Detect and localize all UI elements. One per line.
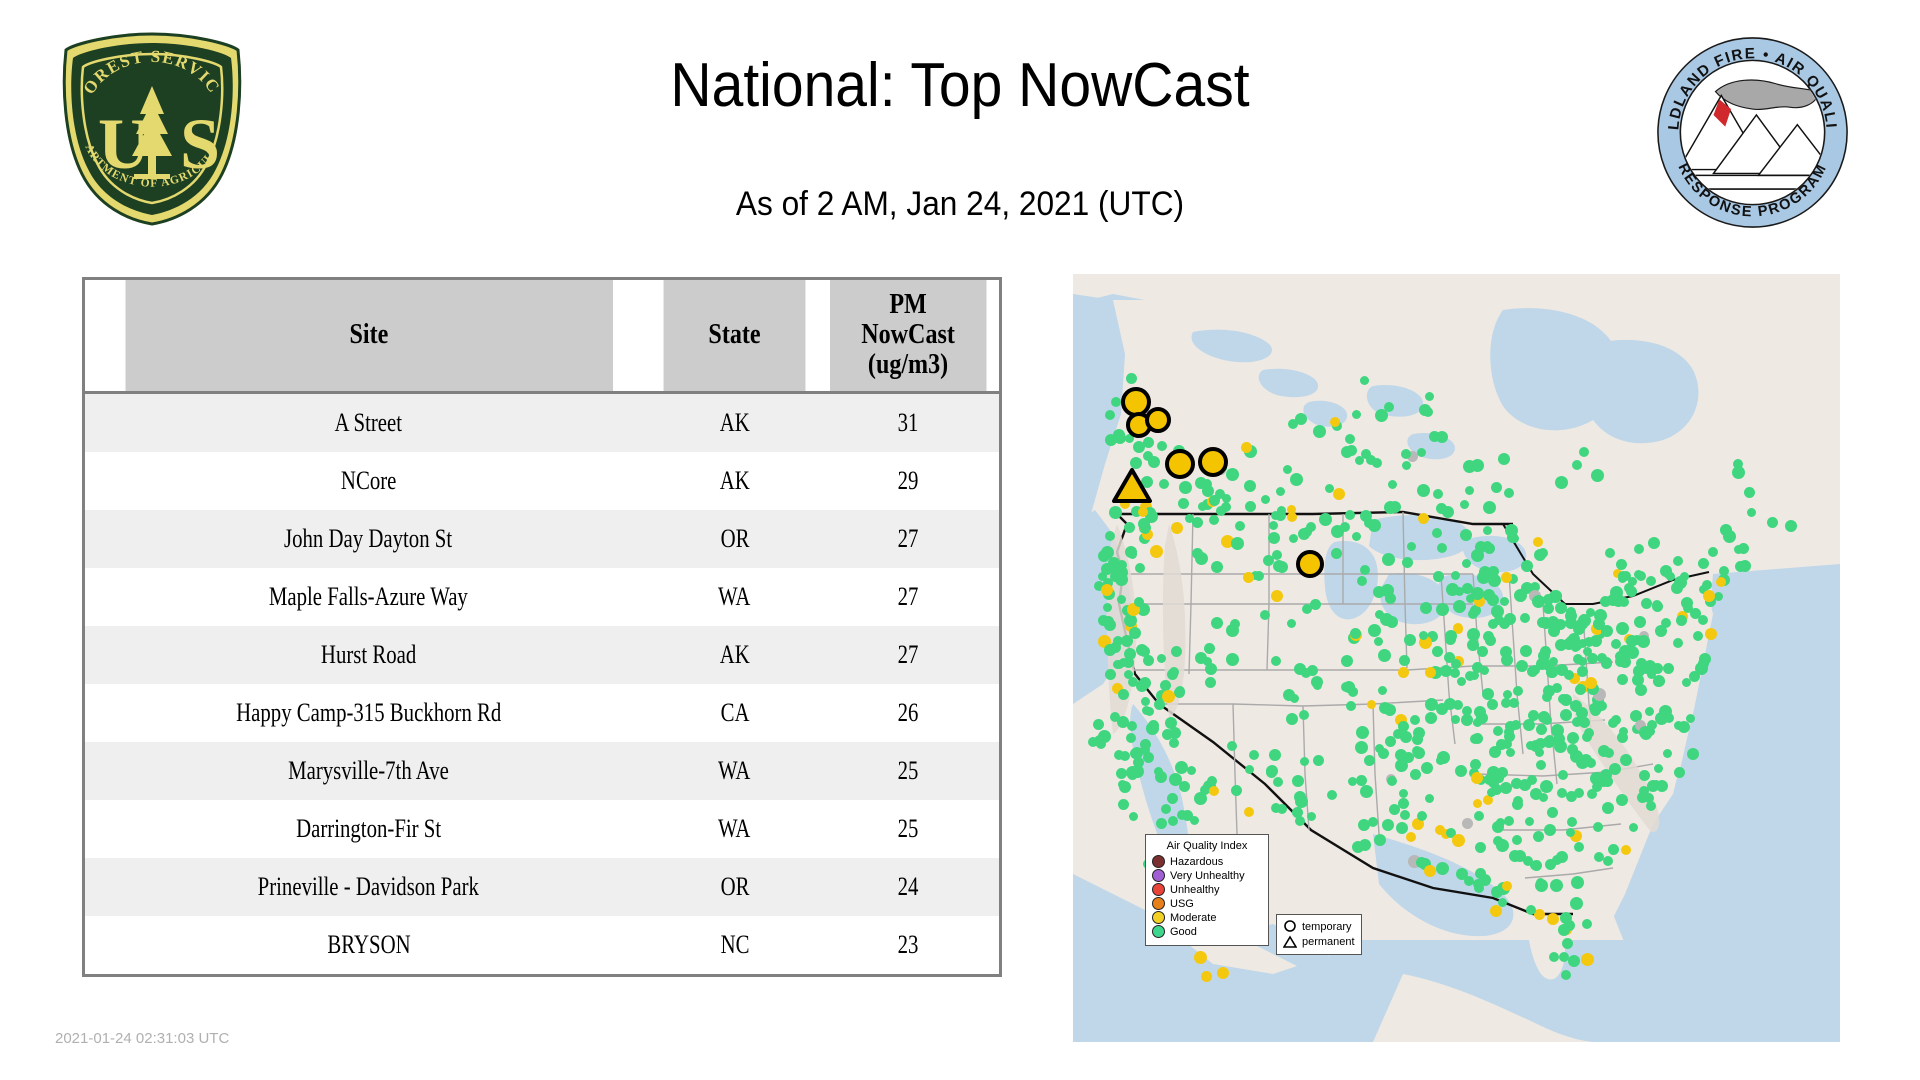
- aqi-legend-swatch-icon: [1152, 925, 1165, 938]
- monitor-dot[interactable]: [1540, 780, 1553, 793]
- monitor-dot[interactable]: [1491, 482, 1502, 493]
- monitor-dot[interactable]: [1178, 498, 1189, 509]
- monitor-dot[interactable]: [1272, 550, 1282, 560]
- cell-site-label: Maple Falls-Azure Way: [269, 582, 468, 612]
- cell-pm-nowcast-label: 29: [898, 466, 919, 496]
- monitor-dot[interactable]: [1509, 698, 1519, 708]
- monitor-dot[interactable]: [1504, 816, 1514, 826]
- monitor-dot[interactable]: [1502, 739, 1512, 749]
- monitor-dot[interactable]: [1143, 451, 1153, 461]
- monitor-dot[interactable]: [1179, 481, 1192, 494]
- monitor-dot[interactable]: [1452, 834, 1465, 847]
- top-site-marker[interactable]: [1165, 449, 1195, 479]
- monitor-dot[interactable]: [1483, 526, 1492, 535]
- monitor-dot[interactable]: [1626, 635, 1638, 647]
- monitor-dot[interactable]: [1359, 839, 1371, 851]
- monitor-dot[interactable]: [1433, 489, 1443, 499]
- monitor-dot[interactable]: [1141, 697, 1150, 706]
- monitor-dot[interactable]: [1277, 804, 1287, 814]
- table-row: A StreetAK31: [84, 392, 1001, 452]
- monitor-dot[interactable]: [1124, 522, 1135, 533]
- monitor-dot[interactable]: [1487, 788, 1496, 797]
- monitor-dot[interactable]: [1226, 468, 1239, 481]
- monitor-dot[interactable]: [1410, 715, 1420, 725]
- monitor-dot[interactable]: [1543, 736, 1555, 748]
- monitor-dot[interactable]: [1473, 718, 1482, 727]
- monitor-dot[interactable]: [1520, 645, 1532, 657]
- cell-state: CA: [652, 684, 817, 742]
- monitor-dot[interactable]: [1410, 769, 1421, 780]
- monitor-dot[interactable]: [1111, 397, 1121, 407]
- monitor-dot[interactable]: [1118, 689, 1129, 700]
- monitor-dot[interactable]: [1525, 817, 1534, 826]
- monitor-dot[interactable]: [1543, 603, 1554, 614]
- monitor-dot[interactable]: [1480, 666, 1489, 675]
- monitor-dot[interactable]: [1571, 876, 1584, 889]
- monitor-dot[interactable]: [1462, 818, 1473, 829]
- monitor-dot[interactable]: [1204, 643, 1215, 654]
- monitor-dot[interactable]: [1488, 777, 1499, 788]
- monitor-dot[interactable]: [1174, 687, 1185, 698]
- cell-pm-nowcast: 25: [817, 800, 1000, 858]
- monitor-dot[interactable]: [1629, 823, 1638, 832]
- monitor-dot[interactable]: [1273, 777, 1283, 787]
- monitor-dot[interactable]: [1511, 778, 1522, 789]
- monitor-dot[interactable]: [1286, 713, 1298, 725]
- monitor-dot[interactable]: [1383, 554, 1394, 565]
- aqi-legend-label: Good: [1170, 926, 1197, 938]
- monitor-dot[interactable]: [1483, 501, 1496, 514]
- monitor-dot[interactable]: [1345, 510, 1355, 520]
- monitor-dot[interactable]: [1110, 712, 1120, 722]
- monitor-dot[interactable]: [1209, 515, 1219, 525]
- monitor-dot[interactable]: [1634, 544, 1644, 554]
- monitor-dot[interactable]: [1511, 720, 1521, 730]
- monitor-dot[interactable]: [1554, 740, 1567, 753]
- monitor-dot[interactable]: [1568, 955, 1580, 967]
- monitor-dot[interactable]: [1360, 510, 1372, 522]
- monitor-dot[interactable]: [1477, 571, 1490, 584]
- monitor-dot[interactable]: [1276, 561, 1288, 573]
- monitor-dot[interactable]: [1160, 680, 1171, 691]
- monitor-dot[interactable]: [1105, 669, 1116, 680]
- monitor-dot[interactable]: [1513, 686, 1523, 696]
- monitor-dot[interactable]: [1171, 646, 1182, 657]
- monitor-dot[interactable]: [1540, 646, 1551, 657]
- monitor-dot[interactable]: [1698, 558, 1709, 569]
- monitor-dot[interactable]: [1340, 522, 1350, 532]
- monitor-dot[interactable]: [1139, 677, 1151, 689]
- monitor-dot[interactable]: [1190, 816, 1199, 825]
- monitor-dot[interactable]: [1421, 762, 1433, 774]
- monitor-dot[interactable]: [1512, 835, 1522, 845]
- page-subtitle: As of 2 AM, Jan 24, 2021 (UTC): [67, 185, 1853, 224]
- monitor-dot[interactable]: [1471, 587, 1484, 600]
- monitor-dot[interactable]: [1603, 856, 1613, 866]
- cell-site-label: Hurst Road: [321, 640, 416, 670]
- monitor-dot[interactable]: [1655, 712, 1668, 725]
- monitor-dot[interactable]: [1432, 646, 1443, 657]
- monitor-dot[interactable]: [1423, 407, 1433, 417]
- monitor-dot[interactable]: [1570, 750, 1583, 763]
- monitor-dot[interactable]: [1507, 532, 1518, 543]
- monitor-dot[interactable]: [1350, 628, 1361, 639]
- monitor-dot[interactable]: [1635, 684, 1647, 696]
- monitor-dot[interactable]: [1429, 431, 1440, 442]
- monitor-dot[interactable]: [1687, 748, 1699, 760]
- cell-state-label: WA: [718, 756, 750, 786]
- monitor-dot[interactable]: [1345, 434, 1355, 444]
- monitor-dot[interactable]: [1634, 616, 1646, 628]
- cell-pm-nowcast-label: 23: [898, 930, 919, 960]
- legend-temporary-label: temporary: [1302, 921, 1352, 933]
- monitor-dot[interactable]: [1295, 816, 1305, 826]
- monitor-dot[interactable]: [1547, 807, 1558, 818]
- monitor-dot[interactable]: [1744, 487, 1755, 498]
- monitor-dot[interactable]: [1275, 510, 1286, 521]
- monitor-dot[interactable]: [1311, 676, 1323, 688]
- monitor-dot[interactable]: [1427, 713, 1437, 723]
- monitor-dot[interactable]: [1217, 967, 1229, 979]
- monitor-dot[interactable]: [1538, 548, 1548, 558]
- monitor-dot[interactable]: [1161, 804, 1171, 814]
- monitor-dot[interactable]: [1482, 688, 1494, 700]
- monitor-dot[interactable]: [1117, 595, 1126, 604]
- monitor-dot[interactable]: [1567, 817, 1577, 827]
- monitor-dot[interactable]: [1104, 644, 1116, 656]
- monitor-dot[interactable]: [1616, 622, 1629, 635]
- monitor-dot[interactable]: [1098, 572, 1107, 581]
- monitor-dot[interactable]: [1520, 613, 1530, 623]
- monitor-dot[interactable]: [1400, 810, 1410, 820]
- monitor-dot[interactable]: [1140, 739, 1151, 750]
- monitor-dot[interactable]: [1644, 660, 1656, 672]
- monitor-dot[interactable]: [1618, 571, 1628, 581]
- legend-permanent: permanent: [1283, 935, 1355, 949]
- cell-state: WA: [652, 568, 817, 626]
- monitor-dot[interactable]: [1693, 631, 1703, 641]
- cell-state-label: WA: [718, 582, 750, 612]
- monitor-dot[interactable]: [1171, 522, 1183, 534]
- monitor-dot[interactable]: [1621, 845, 1631, 855]
- monitor-dot[interactable]: [1571, 640, 1582, 651]
- monitor-dot[interactable]: [1502, 881, 1512, 891]
- monitor-dot[interactable]: [1463, 460, 1476, 473]
- monitor-dot[interactable]: [1306, 522, 1316, 532]
- monitor-dot[interactable]: [1341, 655, 1353, 667]
- monitor-dot[interactable]: [1260, 610, 1270, 620]
- monitor-dot[interactable]: [1313, 755, 1324, 766]
- aqi-legend-item: Unhealthy: [1152, 883, 1262, 896]
- monitor-dot[interactable]: [1681, 597, 1693, 609]
- monitor-dot[interactable]: [1288, 419, 1298, 429]
- aqi-legend-swatch-icon: [1152, 883, 1165, 896]
- monitor-dot[interactable]: [1203, 657, 1212, 666]
- monitor-dot[interactable]: [1661, 618, 1671, 628]
- site-type-legend: temporary permanent: [1276, 914, 1362, 955]
- monitor-dot[interactable]: [1289, 534, 1298, 543]
- monitor-map[interactable]: Air Quality Index HazardousVery Unhealth…: [1073, 274, 1840, 1042]
- cell-site-label: Prineville - Davidson Park: [258, 872, 479, 902]
- monitor-dot[interactable]: [1641, 598, 1652, 609]
- monitor-dot[interactable]: [1276, 487, 1285, 496]
- monitor-dot[interactable]: [1682, 678, 1691, 687]
- monitor-dot[interactable]: [1501, 572, 1512, 583]
- monitor-dot[interactable]: [1450, 668, 1460, 678]
- monitor-dot[interactable]: [1468, 609, 1478, 619]
- monitor-dot[interactable]: [1436, 862, 1449, 875]
- monitor-dot[interactable]: [1471, 772, 1483, 784]
- generated-timestamp: 2021-01-24 02:31:03 UTC: [55, 1030, 229, 1047]
- monitor-dot[interactable]: [1231, 537, 1244, 550]
- monitor-dot[interactable]: [1705, 628, 1717, 640]
- monitor-dot[interactable]: [1465, 671, 1475, 681]
- monitor-dot[interactable]: [1652, 600, 1662, 610]
- monitor-dot[interactable]: [1598, 745, 1610, 757]
- monitor-dot[interactable]: [1235, 521, 1245, 531]
- monitor-dot[interactable]: [1562, 938, 1573, 949]
- column-header-pm-line3: (ug/m3): [833, 350, 983, 380]
- monitor-dot[interactable]: [1187, 766, 1196, 775]
- top-site-marker[interactable]: [1198, 447, 1228, 477]
- monitor-dot[interactable]: [1587, 789, 1597, 799]
- monitor-dot[interactable]: [1346, 701, 1356, 711]
- legend-temporary: temporary: [1283, 920, 1355, 934]
- monitor-dot[interactable]: [1402, 461, 1411, 470]
- monitor-dot[interactable]: [1230, 619, 1240, 629]
- cell-site-label: Happy Camp-315 Buckhorn Rd: [236, 698, 501, 728]
- monitor-dot[interactable]: [1101, 584, 1113, 596]
- monitor-dot[interactable]: [1135, 563, 1145, 573]
- monitor-dot[interactable]: [1425, 392, 1434, 401]
- monitor-dot[interactable]: [1714, 592, 1723, 601]
- monitor-dot[interactable]: [1488, 619, 1498, 629]
- monitor-dot[interactable]: [1544, 824, 1556, 836]
- monitor-dot[interactable]: [1384, 402, 1394, 412]
- cell-pm-nowcast-label: 27: [898, 640, 919, 670]
- column-header-pm-line2: NowCast: [833, 320, 983, 350]
- aqi-legend-label: Moderate: [1170, 912, 1216, 924]
- monitor-dot[interactable]: [1584, 637, 1594, 647]
- monitor-dot[interactable]: [1601, 658, 1612, 669]
- monitor-dot[interactable]: [1536, 760, 1546, 770]
- cell-state: OR: [652, 858, 817, 916]
- cell-pm-nowcast-label: 31: [898, 408, 919, 438]
- monitor-dot[interactable]: [1720, 524, 1732, 536]
- aqi-legend-item: Hazardous: [1152, 855, 1262, 868]
- monitor-dot[interactable]: [1601, 625, 1613, 637]
- monitor-dot[interactable]: [1437, 543, 1447, 553]
- monitor-dot[interactable]: [1116, 768, 1127, 779]
- monitor-dot[interactable]: [1352, 410, 1361, 419]
- monitor-dot[interactable]: [1483, 541, 1492, 550]
- monitor-dot[interactable]: [1402, 557, 1413, 568]
- aqi-legend: Air Quality Index HazardousVery Unhealth…: [1145, 834, 1269, 946]
- monitor-dot[interactable]: [1487, 699, 1498, 710]
- cell-site: Hurst Road: [84, 626, 653, 684]
- monitor-dot[interactable]: [1388, 480, 1397, 489]
- monitor-dot[interactable]: [1673, 638, 1683, 648]
- monitor-dot[interactable]: [1664, 570, 1673, 579]
- monitor-dot[interactable]: [1504, 488, 1514, 498]
- monitor-dot[interactable]: [1378, 686, 1387, 695]
- aqi-legend-title: Air Quality Index: [1152, 840, 1262, 852]
- monitor-dot[interactable]: [1155, 771, 1167, 783]
- cell-state: OR: [652, 510, 817, 568]
- monitor-dot[interactable]: [1367, 700, 1376, 709]
- cell-site: BRYSON: [84, 916, 653, 976]
- monitor-dot[interactable]: [1572, 460, 1582, 470]
- monitor-dot[interactable]: [1360, 785, 1373, 798]
- monitor-dot[interactable]: [1767, 517, 1778, 528]
- monitor-dot[interactable]: [1244, 480, 1256, 492]
- monitor-dot[interactable]: [1226, 653, 1239, 666]
- monitor-dot[interactable]: [1506, 748, 1515, 757]
- monitor-dot[interactable]: [1201, 971, 1212, 982]
- monitor-dot[interactable]: [1348, 687, 1358, 697]
- monitor-dot[interactable]: [1732, 466, 1745, 479]
- monitor-dot[interactable]: [1616, 559, 1627, 570]
- monitor-dot[interactable]: [1150, 545, 1163, 558]
- monitor-dot[interactable]: [1608, 844, 1619, 855]
- monitor-dot[interactable]: [1500, 597, 1509, 606]
- monitor-dot[interactable]: [1576, 618, 1588, 630]
- table-row: Maple Falls-Azure WayWA27: [84, 568, 1001, 626]
- top-nowcast-table-container: Site State PM NowCast (ug/m3) A StreetAK…: [82, 277, 1002, 977]
- monitor-dot[interactable]: [1504, 613, 1516, 625]
- monitor-dot[interactable]: [1514, 589, 1527, 602]
- monitor-dot[interactable]: [1157, 654, 1166, 663]
- monitor-dot[interactable]: [1401, 449, 1411, 459]
- monitor-dot[interactable]: [1609, 763, 1621, 775]
- monitor-dot[interactable]: [1637, 792, 1648, 803]
- monitor-dot[interactable]: [1583, 647, 1592, 656]
- cell-pm-nowcast: 27: [817, 568, 1000, 626]
- monitor-dot[interactable]: [1364, 755, 1375, 766]
- monitor-dot[interactable]: [1607, 594, 1619, 606]
- monitor-dot[interactable]: [1209, 786, 1219, 796]
- monitor-dot[interactable]: [1436, 756, 1445, 765]
- monitor-dot[interactable]: [1360, 565, 1370, 575]
- monitor-dot[interactable]: [1536, 724, 1547, 735]
- monitor-dot[interactable]: [1560, 709, 1572, 721]
- monitor-dot[interactable]: [1292, 775, 1304, 787]
- monitor-dot[interactable]: [1374, 834, 1386, 846]
- monitor-dot[interactable]: [1295, 795, 1308, 808]
- monitor-dot[interactable]: [1465, 486, 1474, 495]
- monitor-dot[interactable]: [1433, 571, 1444, 582]
- monitor-dot[interactable]: [1118, 799, 1129, 810]
- monitor-dot[interactable]: [1462, 559, 1471, 568]
- monitor-dot[interactable]: [1703, 590, 1715, 602]
- monitor-dot[interactable]: [1341, 446, 1353, 458]
- monitor-dot[interactable]: [1785, 520, 1797, 532]
- column-header-state: State: [664, 279, 806, 393]
- monitor-dot[interactable]: [1245, 765, 1254, 774]
- top-site-marker[interactable]: [1296, 550, 1324, 578]
- cell-site: Maple Falls-Azure Way: [84, 568, 653, 626]
- monitor-dot[interactable]: [1496, 839, 1509, 852]
- cell-site: Darrington-Fir St: [84, 800, 653, 858]
- monitor-dot[interactable]: [1619, 727, 1628, 736]
- aqi-legend-swatch-icon: [1152, 869, 1165, 882]
- monitor-dot[interactable]: [1358, 819, 1370, 831]
- monitor-dot[interactable]: [1570, 700, 1582, 712]
- monitor-dot[interactable]: [1432, 528, 1442, 538]
- monitor-dot[interactable]: [1162, 690, 1175, 703]
- monitor-dot[interactable]: [1399, 655, 1410, 666]
- monitor-dot[interactable]: [1514, 850, 1526, 862]
- monitor-dot[interactable]: [1739, 560, 1751, 572]
- cell-pm-nowcast: 25: [817, 742, 1000, 800]
- monitor-dot[interactable]: [1287, 619, 1296, 628]
- monitor-dot[interactable]: [1313, 425, 1326, 438]
- monitor-dot[interactable]: [1572, 717, 1582, 727]
- monitor-dot[interactable]: [1526, 905, 1536, 915]
- monitor-dot[interactable]: [1550, 879, 1563, 892]
- monitor-dot[interactable]: [1574, 842, 1584, 852]
- monitor-dot[interactable]: [1567, 732, 1579, 744]
- cell-pm-nowcast: 31: [817, 392, 1000, 452]
- column-header-site-label: Site: [349, 319, 388, 350]
- monitor-dot[interactable]: [1653, 676, 1664, 687]
- monitor-dot[interactable]: [1526, 741, 1535, 750]
- monitor-dot[interactable]: [1129, 812, 1138, 821]
- monitor-dot[interactable]: [1577, 666, 1588, 677]
- table-row: Hurst RoadAK27: [84, 626, 1001, 684]
- monitor-dot[interactable]: [1436, 703, 1448, 715]
- monitor-dot[interactable]: [1615, 656, 1626, 667]
- monitor-dot[interactable]: [1556, 851, 1568, 863]
- monitor-dot[interactable]: [1389, 501, 1401, 513]
- monitor-dot[interactable]: [1674, 767, 1685, 778]
- monitor-dot[interactable]: [1442, 506, 1454, 518]
- permanent-site-marker[interactable]: [1111, 467, 1153, 510]
- monitor-dot[interactable]: [1093, 719, 1104, 730]
- monitor-dot[interactable]: [1498, 453, 1510, 465]
- monitor-dot[interactable]: [1134, 597, 1144, 607]
- monitor-dot[interactable]: [1460, 500, 1469, 509]
- monitor-dot[interactable]: [1325, 484, 1334, 493]
- aqi-legend-label: Very Unhealthy: [1170, 870, 1245, 882]
- monitor-dot[interactable]: [1547, 616, 1559, 628]
- monitor-dot[interactable]: [1413, 727, 1425, 739]
- monitor-dot[interactable]: [1302, 604, 1312, 614]
- monitor-dot[interactable]: [1378, 649, 1391, 662]
- monitor-dot[interactable]: [1475, 868, 1486, 879]
- monitor-dot[interactable]: [1205, 677, 1216, 688]
- monitor-dot[interactable]: [1574, 788, 1584, 798]
- monitor-dot[interactable]: [1241, 442, 1252, 453]
- monitor-dot[interactable]: [1648, 537, 1660, 549]
- aqi-legend-item: Very Unhealthy: [1152, 869, 1262, 882]
- monitor-dot[interactable]: [1533, 831, 1544, 842]
- monitor-dot[interactable]: [1591, 469, 1604, 482]
- monitor-dot[interactable]: [1593, 822, 1603, 832]
- monitor-dot[interactable]: [1356, 726, 1369, 739]
- monitor-dot[interactable]: [1261, 495, 1270, 504]
- monitor-dot[interactable]: [1417, 484, 1430, 497]
- table-row: Darrington-Fir StWA25: [84, 800, 1001, 858]
- monitor-dot[interactable]: [1531, 860, 1542, 871]
- cell-pm-nowcast: 27: [817, 510, 1000, 568]
- monitor-dot[interactable]: [1418, 513, 1429, 524]
- monitor-dot[interactable]: [1157, 441, 1167, 451]
- monitor-dot[interactable]: [1126, 733, 1136, 743]
- monitor-dot[interactable]: [1543, 685, 1555, 697]
- top-site-marker[interactable]: [1145, 407, 1171, 433]
- monitor-dot[interactable]: [1103, 616, 1114, 627]
